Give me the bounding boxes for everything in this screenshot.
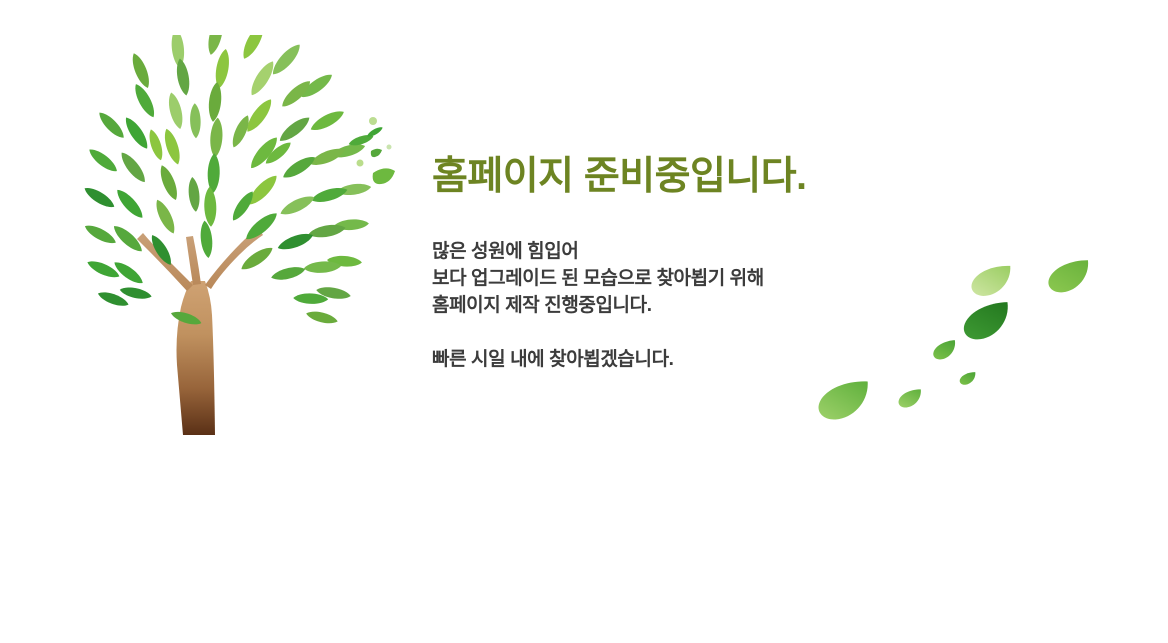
coming-soon-page: 홈페이지 준비중입니다. 많은 성원에 힘입어 보다 업그레이드 된 모습으로 … <box>0 0 1168 643</box>
floating-leaves-decoration <box>800 255 1100 455</box>
tree-illustration <box>55 35 415 440</box>
page-title: 홈페이지 준비중입니다. <box>432 152 952 202</box>
tree-canopy <box>82 35 372 328</box>
tree-trunk <box>137 229 263 435</box>
